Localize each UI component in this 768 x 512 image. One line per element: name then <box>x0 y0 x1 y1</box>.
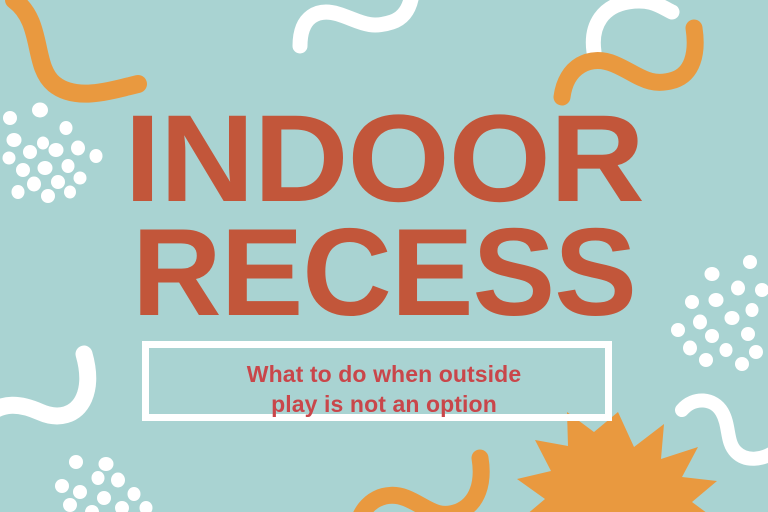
page-title-line-2: RECESS <box>0 211 768 335</box>
poster-content: INDOOR RECESS What to do when outside pl… <box>0 0 768 512</box>
poster-canvas: INDOOR RECESS What to do when outside pl… <box>0 0 768 512</box>
subtitle: What to do when outside play is not an o… <box>149 359 619 419</box>
subtitle-box: What to do when outside play is not an o… <box>142 341 612 421</box>
page-title-line-1: INDOOR <box>0 97 768 221</box>
subtitle-line-1: What to do when outside <box>247 361 521 387</box>
subtitle-line-2: play is not an option <box>149 389 619 419</box>
